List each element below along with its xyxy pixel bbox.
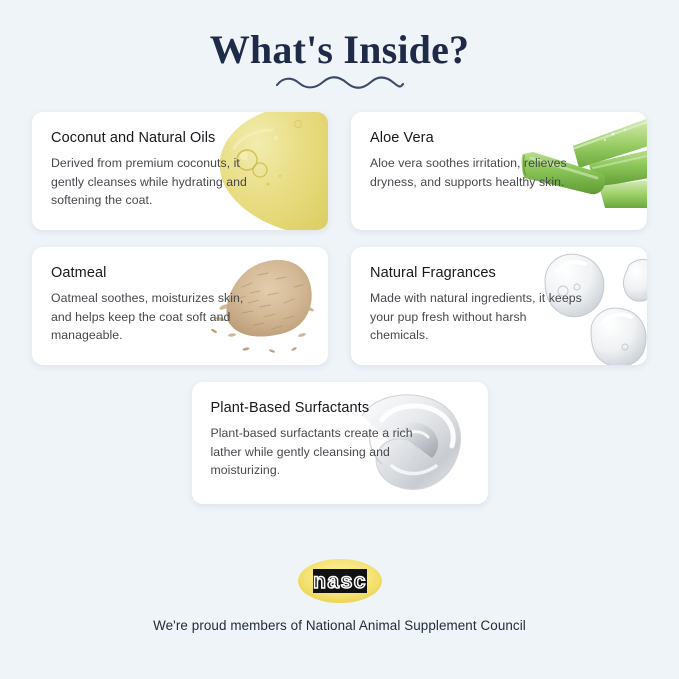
ingredient-card-oatmeal[interactable]: Oatmeal Oatmeal soothes, moisturizes ski… xyxy=(32,247,328,365)
card-text-block: Aloe Vera Aloe vera soothes irritation, … xyxy=(351,112,585,191)
ingredient-card-coconut-oils[interactable]: Coconut and Natural Oils Derived from pr… xyxy=(32,112,328,230)
footer: nasc We're proud members of National Ani… xyxy=(0,557,679,633)
card-title: Aloe Vera xyxy=(370,131,585,147)
card-title: Coconut and Natural Oils xyxy=(51,131,266,147)
card-description: Aloe vera soothes irritation, relieves d… xyxy=(370,154,585,191)
page-header: What's Inside? xyxy=(0,0,679,94)
footer-membership-text: We're proud members of National Animal S… xyxy=(0,618,679,633)
ingredient-card-aloe-vera[interactable]: Aloe Vera Aloe vera soothes irritation, … xyxy=(351,112,647,230)
card-text-block: Plant-Based Surfactants Plant-based surf… xyxy=(192,382,426,480)
page-title: What's Inside? xyxy=(0,30,679,70)
card-description: Oatmeal soothes, moisturizes skin, and h… xyxy=(51,289,266,345)
card-description: Derived from premium coconuts, it gently… xyxy=(51,154,266,210)
ingredient-card-plant-based-surfactants[interactable]: Plant-Based Surfactants Plant-based surf… xyxy=(192,382,488,504)
card-title: Natural Fragrances xyxy=(370,266,585,282)
nasc-logo-text: nasc xyxy=(313,570,367,593)
card-description: Made with natural ingredients, it keeps … xyxy=(370,289,585,345)
card-text-block: Coconut and Natural Oils Derived from pr… xyxy=(32,112,266,210)
card-description: Plant-based surfactants create a rich la… xyxy=(211,424,426,480)
card-title: Oatmeal xyxy=(51,266,266,282)
card-title: Plant-Based Surfactants xyxy=(211,401,426,417)
nasc-logo: nasc xyxy=(297,557,383,605)
card-row-1: Coconut and Natural Oils Derived from pr… xyxy=(32,112,647,230)
card-row-3: Plant-Based Surfactants Plant-based surf… xyxy=(32,382,647,504)
card-text-block: Oatmeal Oatmeal soothes, moisturizes ski… xyxy=(32,247,266,345)
title-squiggle-decoration xyxy=(0,74,679,94)
card-row-2: Oatmeal Oatmeal soothes, moisturizes ski… xyxy=(32,247,647,365)
card-text-block: Natural Fragrances Made with natural ing… xyxy=(351,247,585,345)
ingredient-cards-grid: Coconut and Natural Oils Derived from pr… xyxy=(32,112,647,504)
ingredient-card-natural-fragrances[interactable]: Natural Fragrances Made with natural ing… xyxy=(351,247,647,365)
